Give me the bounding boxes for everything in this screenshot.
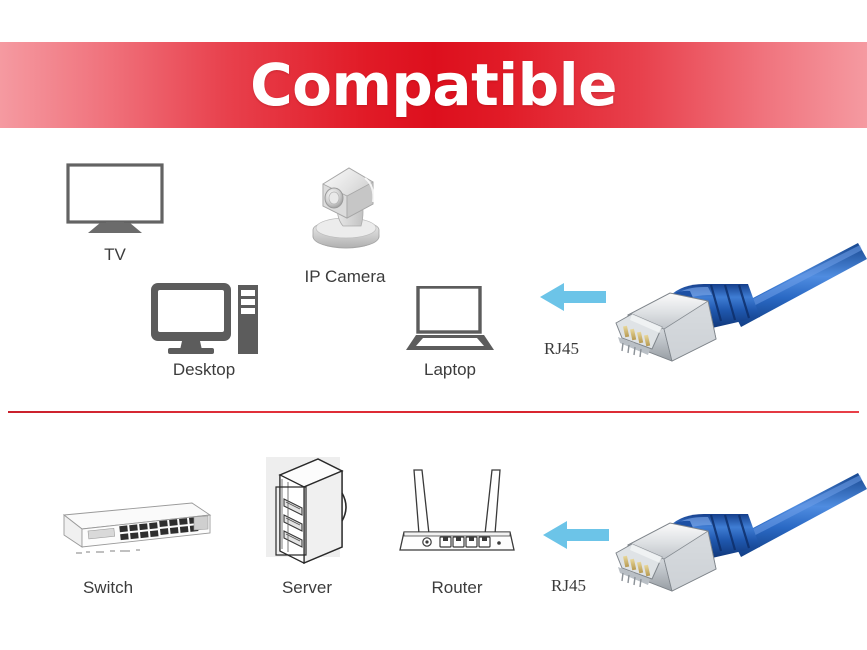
ip-camera-icon: [303, 160, 389, 252]
switch-label: Switch: [52, 578, 164, 598]
router-label: Router: [402, 578, 512, 598]
server-label: Server: [252, 578, 362, 598]
header-banner: Compatible: [0, 42, 867, 128]
wireless-router-icon: [396, 462, 518, 560]
desktop-label: Desktop: [150, 360, 258, 380]
laptop-icon: [406, 286, 494, 356]
rj45-cable-image: [608, 243, 867, 371]
arrow-left-icon: [543, 518, 609, 552]
rj45-label-top: RJ45: [544, 339, 579, 359]
ip-camera-label: IP Camera: [285, 267, 405, 287]
laptop-label: Laptop: [402, 360, 498, 380]
section-divider: [8, 411, 859, 413]
rj45-label-bottom: RJ45: [551, 576, 586, 596]
desktop-icon: [150, 282, 258, 357]
network-switch-icon: [42, 495, 212, 565]
server-rack-icon: [262, 455, 352, 565]
tv-icon: [62, 163, 168, 237]
rj45-cable-image: [608, 473, 867, 601]
arrow-left-icon: [540, 280, 606, 314]
page-title: Compatible: [250, 56, 617, 114]
tv-label: TV: [62, 245, 168, 265]
